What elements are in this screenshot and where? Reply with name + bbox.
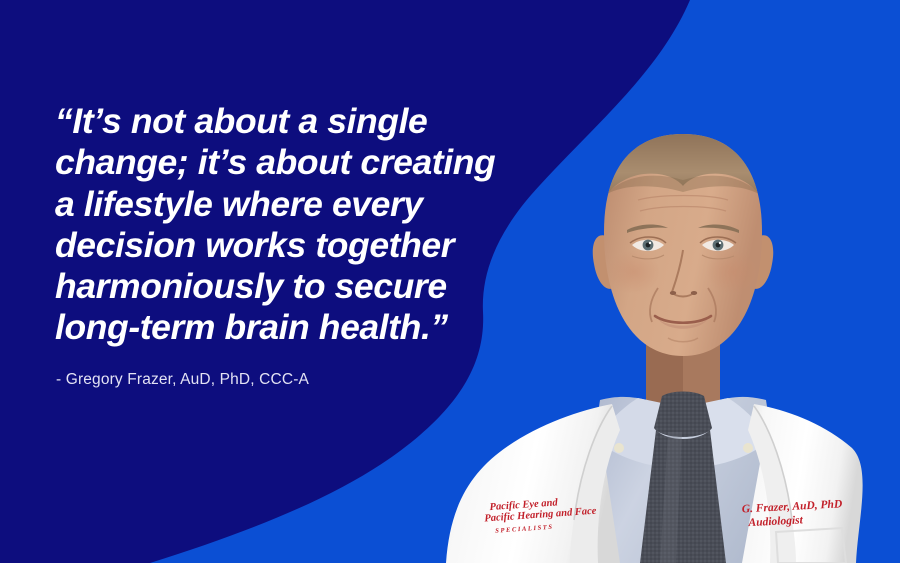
lab-coat: Pacific Eye and Pacific Hearing and Face… [446,322,863,563]
collar-button-left [614,443,624,453]
nostril-left [670,291,676,295]
tie-knot [654,392,712,438]
quote-card: Pacific Eye and Pacific Hearing and Face… [0,0,900,563]
nostril-right [691,291,697,295]
head [600,132,766,356]
portrait-photo: Pacific Eye and Pacific Hearing and Face… [0,0,900,563]
collar-button-right [743,443,753,453]
